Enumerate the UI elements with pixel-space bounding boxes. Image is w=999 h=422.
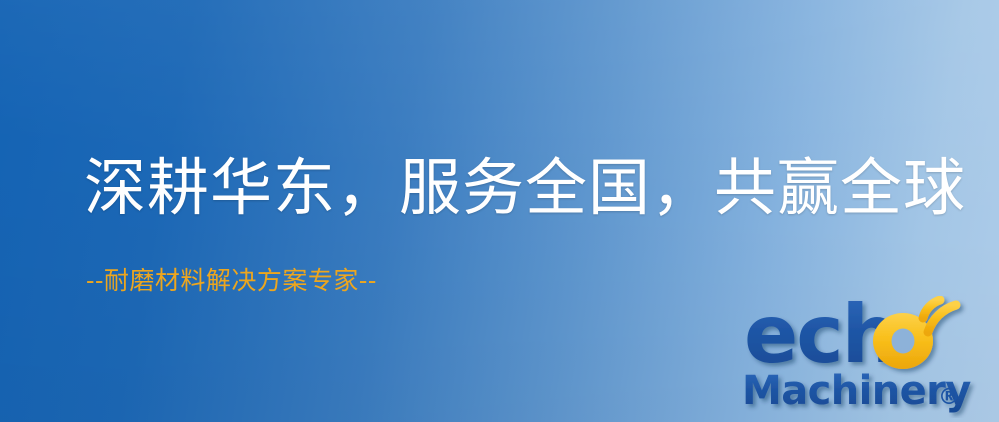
page-title: 深耕华东，服务全国，共赢全球 [84,152,966,224]
echo-waves-icon [923,300,956,332]
logo-word-machinery: Machinery [742,368,971,414]
trademark-symbol: ® [938,385,960,410]
hero-banner: 深耕华东，服务全国，共赢全球 --耐磨材料解决方案专家-- [0,0,999,422]
page-subtitle: --耐磨材料解决方案专家-- [86,266,377,296]
company-logo[interactable]: ech Machinery ® [742,296,992,418]
